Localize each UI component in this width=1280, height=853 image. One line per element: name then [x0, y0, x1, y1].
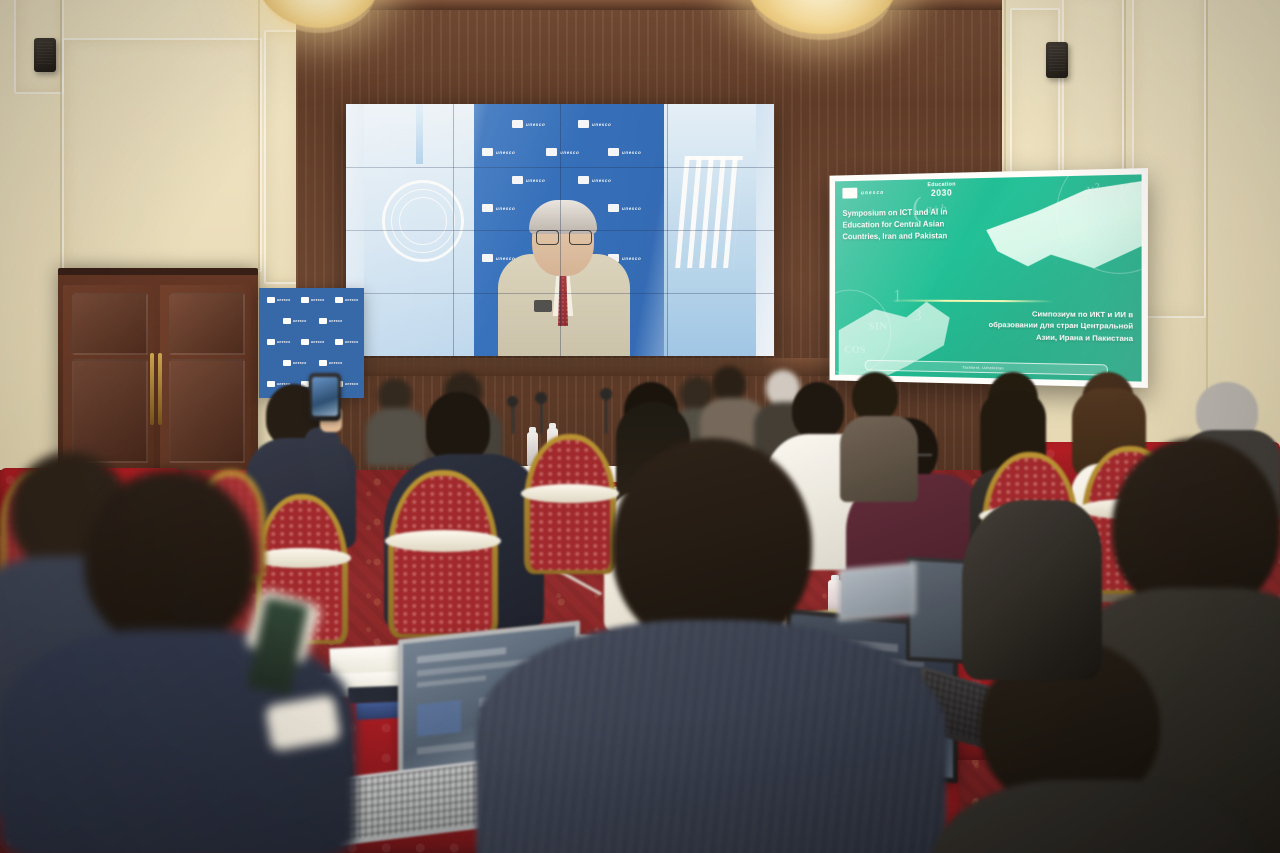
banquet-chair-2[interactable] [388, 470, 498, 638]
smartphone-raised[interactable] [309, 373, 341, 421]
wood-trim-top [296, 0, 1002, 10]
wall-speaker-right [1046, 42, 1068, 78]
microphone-head-1 [535, 392, 547, 404]
banner-logo-text: unesco [277, 298, 291, 302]
microphone-head-3 [507, 396, 518, 407]
door-handle-right [158, 353, 162, 425]
screen-glare [346, 104, 774, 356]
projection-screen[interactable]: x² − y² a+b ( 1 3 SIN COS unesco Educati… [830, 168, 1148, 388]
pinstripe-texture [476, 620, 946, 853]
wall-panel-left-b [264, 30, 300, 284]
microphone-head-2 [600, 388, 612, 400]
foreground-center-head [612, 438, 812, 650]
smartphone-screen [312, 377, 338, 416]
conference-hall-photo: unesco unesco unesco unesco unesco unesc… [0, 0, 1280, 853]
wall-panel-left-a [62, 38, 262, 272]
projector-glare [835, 174, 1142, 381]
attendee-mid-left-head [426, 392, 490, 462]
wall-seam-right3 [1206, 0, 1208, 400]
leather-jacket [962, 500, 1102, 680]
laptop-far-screen[interactable] [838, 563, 916, 622]
wall-seam-left2 [258, 0, 260, 300]
mahogany-double-door[interactable] [58, 268, 258, 475]
video-wall-display[interactable]: unesco unesco unesco unesco unesco unesc… [346, 104, 774, 356]
banquet-chair-3[interactable] [524, 434, 616, 574]
microphone-stem-2 [605, 394, 608, 434]
wall-speaker-left [34, 38, 56, 72]
door-handle-left [150, 353, 154, 425]
